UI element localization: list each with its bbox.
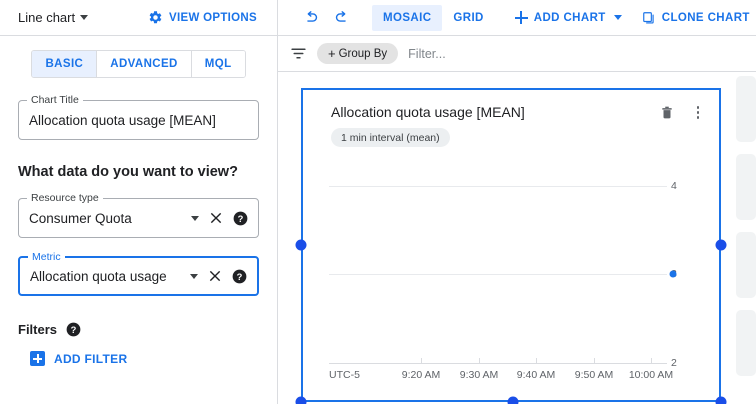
- chart-card[interactable]: Allocation quota usage [MEAN] 1 min inte…: [301, 88, 721, 402]
- resource-type-field-wrap: Resource type Consumer Quota ?: [0, 198, 277, 238]
- tab-mosaic-label: MOSAIC: [383, 12, 431, 24]
- placeholder-card: [736, 232, 756, 298]
- undo-button[interactable]: [296, 3, 326, 33]
- tab-advanced[interactable]: ADVANCED: [97, 51, 192, 77]
- tab-basic-label: BASIC: [45, 58, 83, 70]
- placeholder-card: [736, 154, 756, 220]
- tab-mql-label: MQL: [205, 58, 232, 70]
- resource-type-value[interactable]: Consumer Quota: [29, 211, 191, 226]
- gridline-4: [329, 186, 667, 187]
- chevron-down-icon: [80, 15, 88, 20]
- resize-handle-bottom-right[interactable]: [716, 397, 727, 404]
- x-tick-label: 9:40 AM: [517, 369, 556, 381]
- resize-handle-bottom-left[interactable]: [296, 397, 307, 404]
- group-by-chip[interactable]: + Group By: [317, 43, 398, 64]
- add-filter-button[interactable]: ADD FILTER: [30, 351, 259, 366]
- dashboard-canvas: Allocation quota usage [MEAN] 1 min inte…: [278, 72, 756, 404]
- chart-plot-area: 4 3 2 UTC-5 9:20 AM 9:30 AM 9:40 AM 9:50…: [317, 168, 709, 392]
- resize-handle-bottom-center[interactable]: [508, 397, 519, 404]
- timezone-label: UTC-5: [329, 369, 360, 381]
- redo-icon: [333, 9, 350, 26]
- clone-chart-button[interactable]: CLONE CHART: [642, 11, 750, 25]
- add-filter-label: ADD FILTER: [54, 352, 127, 366]
- resize-handle-right-middle[interactable]: [716, 240, 727, 251]
- svg-text:?: ?: [237, 271, 243, 281]
- data-section-heading: What data do you want to view?: [18, 164, 259, 180]
- gridline-3: [329, 274, 667, 275]
- chart-type-dropdown[interactable]: Line chart: [18, 10, 88, 25]
- view-options-button[interactable]: VIEW OPTIONS: [148, 10, 265, 25]
- chart-card-title: Allocation quota usage [MEAN]: [331, 104, 525, 120]
- chart-card-header: Allocation quota usage [MEAN]: [303, 90, 719, 120]
- tab-grid[interactable]: GRID: [442, 5, 494, 31]
- chart-type-label: Line chart: [18, 10, 75, 25]
- editor-panel-header: Line chart VIEW OPTIONS: [0, 0, 277, 36]
- resource-type-legend: Resource type: [27, 192, 103, 204]
- tab-mosaic[interactable]: MOSAIC: [372, 5, 442, 31]
- editor-tabs-row: BASIC ADVANCED MQL: [0, 36, 277, 78]
- resource-type-clear-icon[interactable]: [209, 211, 223, 225]
- metric-field[interactable]: Metric Allocation quota usage ?: [18, 256, 259, 296]
- svg-text:?: ?: [238, 213, 244, 223]
- copy-icon: [642, 11, 656, 25]
- filters-heading-row: Filters ?: [18, 322, 259, 337]
- plus-icon: [515, 11, 528, 24]
- y-tick-label: 4: [671, 180, 695, 192]
- svg-text:?: ?: [71, 325, 77, 335]
- tab-mql[interactable]: MQL: [192, 51, 245, 77]
- resource-type-field[interactable]: Resource type Consumer Quota ?: [18, 198, 259, 238]
- tab-basic[interactable]: BASIC: [32, 51, 97, 77]
- filter-icon[interactable]: [290, 45, 307, 62]
- resource-type-chevron-down-icon[interactable]: [191, 216, 199, 221]
- x-tick-mark: [536, 358, 537, 363]
- chart-title-field[interactable]: Chart Title Allocation quota usage [MEAN…: [18, 100, 259, 140]
- chart-editor-panel: Line chart VIEW OPTIONS BASIC ADVANCED M: [0, 0, 278, 404]
- add-chart-button[interactable]: ADD CHART: [515, 11, 622, 24]
- metric-legend: Metric: [28, 251, 65, 263]
- dashboard-panel: MOSAIC GRID ADD CHART CLONE CHART: [278, 0, 756, 404]
- filters-help-icon[interactable]: ?: [66, 322, 81, 337]
- metric-chevron-down-icon[interactable]: [190, 274, 198, 279]
- interval-badge: 1 min interval (mean): [331, 128, 450, 147]
- x-tick-label: 9:30 AM: [460, 369, 499, 381]
- placeholder-card: [736, 76, 756, 142]
- group-by-label: Group By: [339, 48, 388, 60]
- add-chart-label: ADD CHART: [534, 12, 606, 24]
- resource-type-help-icon[interactable]: ?: [233, 211, 248, 226]
- dashboard-toolbar: MOSAIC GRID ADD CHART CLONE CHART: [278, 0, 756, 36]
- app-root: Line chart VIEW OPTIONS BASIC ADVANCED M: [0, 0, 756, 404]
- group-by-plus-label: +: [328, 47, 336, 60]
- undo-icon: [303, 9, 320, 26]
- chevron-down-icon: [614, 15, 622, 20]
- data-point: [670, 271, 677, 278]
- filter-input[interactable]: Filter...: [408, 47, 446, 61]
- trash-icon[interactable]: [660, 105, 674, 120]
- gear-icon: [148, 10, 163, 25]
- x-tick-mark: [479, 358, 480, 363]
- x-tick-label: 9:50 AM: [575, 369, 614, 381]
- filter-bar: + Group By Filter...: [278, 36, 756, 72]
- redo-button[interactable]: [326, 3, 356, 33]
- placeholder-card: [736, 310, 756, 376]
- x-tick-mark: [594, 358, 595, 363]
- editor-tabs: BASIC ADVANCED MQL: [31, 50, 245, 78]
- chart-card-actions: [660, 104, 705, 120]
- view-mode-tabs: MOSAIC GRID: [372, 5, 495, 31]
- y-tick-label: 2: [671, 357, 695, 369]
- chart-title-input[interactable]: Allocation quota usage [MEAN]: [29, 113, 250, 128]
- x-tick-label: 9:20 AM: [402, 369, 441, 381]
- x-axis-line: [329, 363, 667, 364]
- tab-grid-label: GRID: [453, 12, 483, 24]
- chart-title-legend: Chart Title: [27, 94, 83, 106]
- x-tick-mark: [421, 358, 422, 363]
- plus-icon: [30, 351, 45, 366]
- filters-label: Filters: [18, 322, 57, 337]
- resource-type-icons: ?: [191, 211, 250, 226]
- view-options-label: VIEW OPTIONS: [169, 12, 257, 24]
- more-vert-icon[interactable]: [691, 105, 705, 120]
- metric-help-icon[interactable]: ?: [232, 269, 247, 284]
- clone-chart-label: CLONE CHART: [662, 12, 750, 24]
- metric-field-wrap: Metric Allocation quota usage ?: [0, 256, 277, 296]
- metric-value[interactable]: Allocation quota usage: [30, 269, 190, 284]
- tab-advanced-label: ADVANCED: [110, 58, 178, 70]
- x-tick-label: 10:00 AM: [629, 369, 673, 381]
- x-tick-mark: [651, 358, 652, 363]
- metric-clear-icon[interactable]: [208, 269, 222, 283]
- metric-icons: ?: [190, 269, 249, 284]
- resize-handle-left-middle[interactable]: [296, 240, 307, 251]
- chart-title-field-wrap: Chart Title Allocation quota usage [MEAN…: [0, 100, 277, 140]
